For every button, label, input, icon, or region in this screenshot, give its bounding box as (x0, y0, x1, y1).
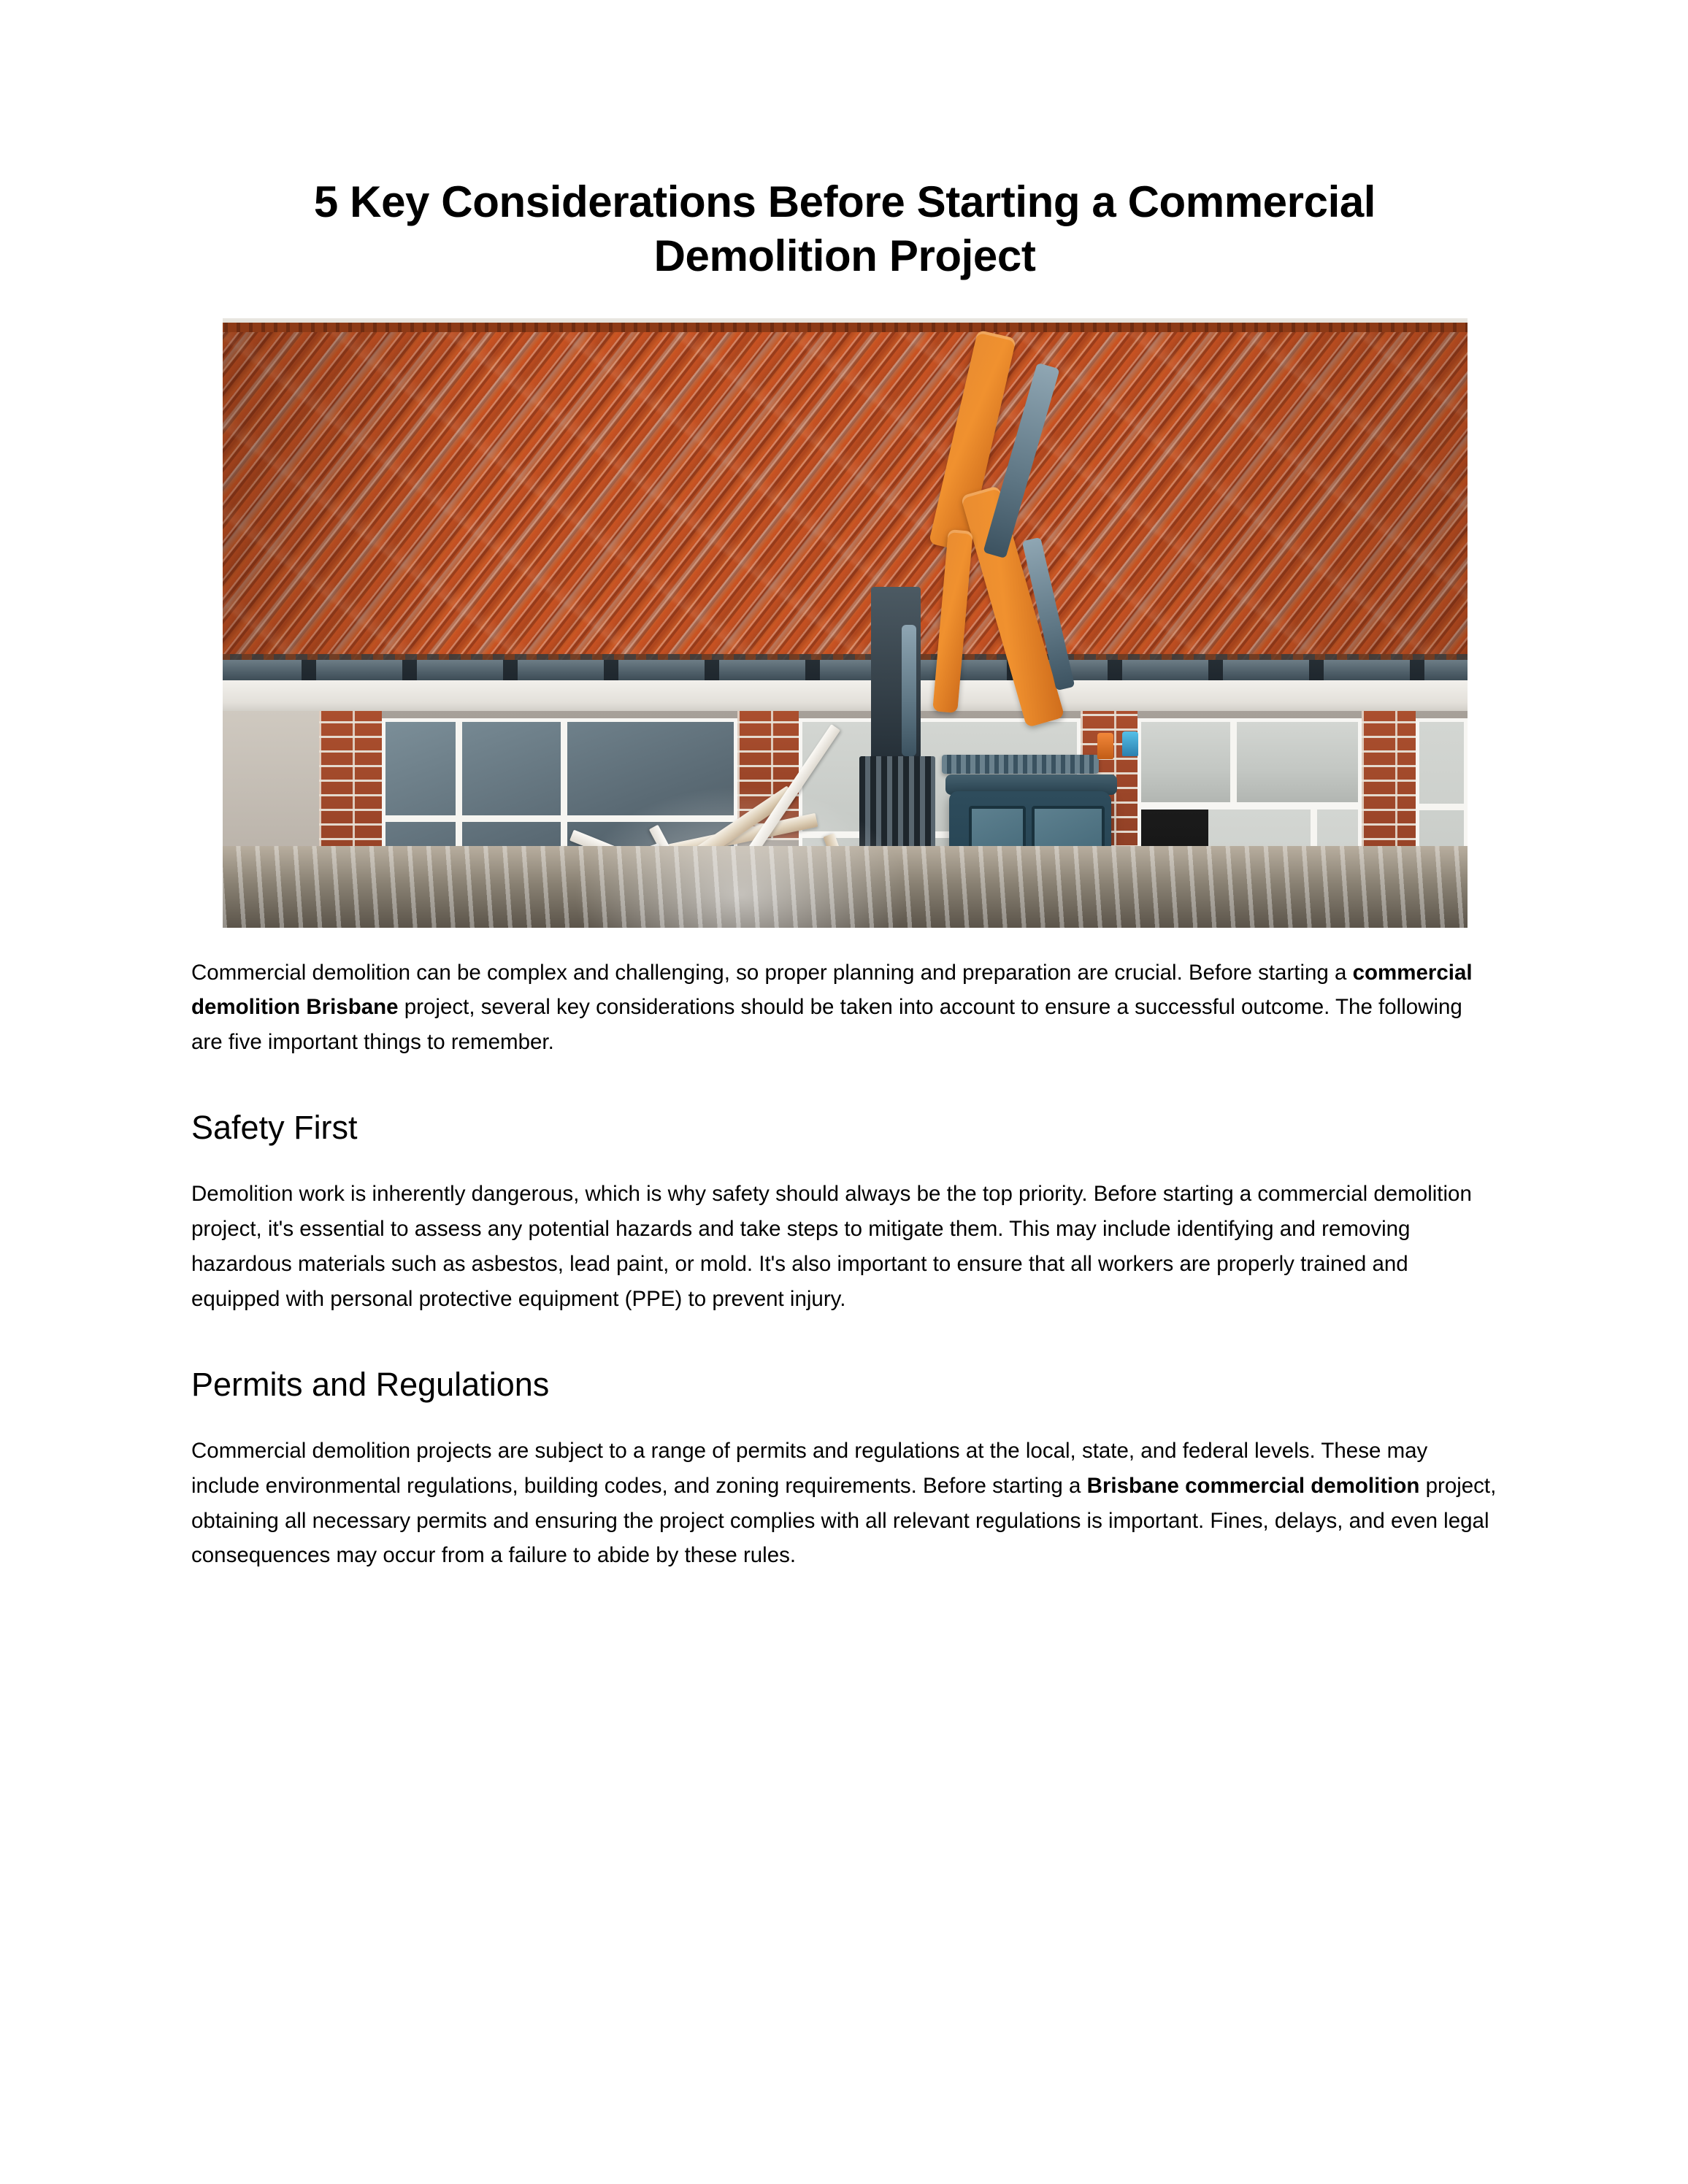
window-right-transom (1138, 718, 1362, 806)
figure-container (191, 318, 1498, 928)
page-title: 5 Key Considerations Before Starting a C… (191, 175, 1498, 283)
soffit-band (223, 680, 1468, 712)
amber-beacon-icon (1097, 733, 1113, 759)
section-heading-safety-first: Safety First (191, 1107, 1498, 1150)
gutter-fascia (223, 660, 1468, 682)
intro-paragraph: Commercial demolition can be complex and… (191, 955, 1498, 1060)
demolition-photo (223, 318, 1468, 928)
section-body-permits-and-regulations: Commercial demolition projects are subje… (191, 1434, 1498, 1573)
intro-text-part1: Commercial demolition can be complex and… (191, 961, 1353, 985)
grapple-cylinder (902, 625, 916, 756)
blue-beacon-icon (1122, 731, 1138, 756)
roof-ridge (223, 323, 1468, 332)
document-page: 5 Key Considerations Before Starting a C… (0, 0, 1688, 2184)
section-heading-permits-and-regulations: Permits and Regulations (191, 1364, 1498, 1407)
permits-keyword-bold: Brisbane commercial demolition (1087, 1474, 1420, 1498)
roof-shading (223, 323, 1468, 667)
tile-roof (223, 323, 1468, 667)
cab-top-guard (942, 755, 1099, 774)
gutter-brackets (223, 660, 1468, 682)
section-body-safety-first: Demolition work is inherently dangerous,… (191, 1177, 1498, 1316)
ground-debris-band (223, 846, 1468, 928)
document-content: 5 Key Considerations Before Starting a C… (191, 175, 1498, 1573)
